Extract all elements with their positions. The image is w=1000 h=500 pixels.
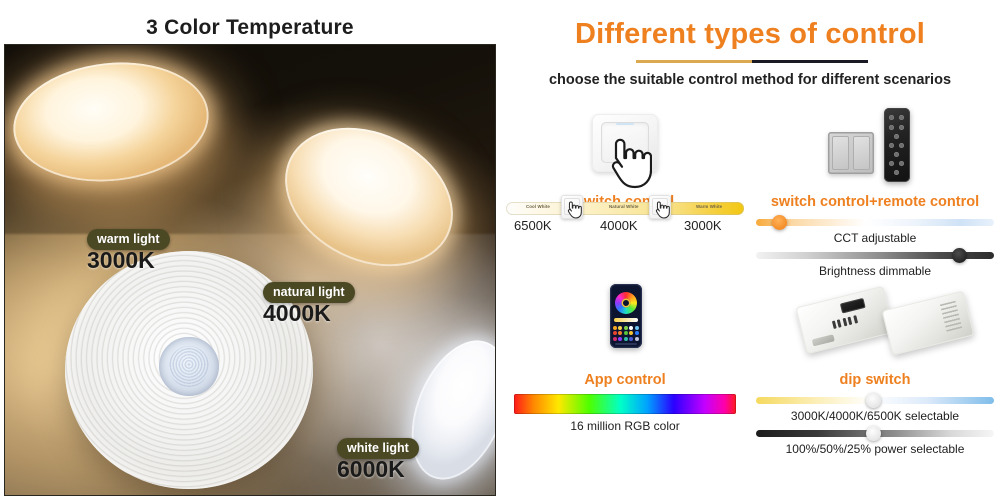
dip-switch-pins	[832, 315, 858, 329]
cct-tag-natural: Natural White	[609, 204, 639, 209]
infographic-page: 3 Color Temperature warm light 3000K	[0, 0, 1000, 500]
color-wheel	[615, 292, 637, 314]
cct-kelvin-warm: 3000K	[684, 218, 722, 233]
driver-vents	[940, 301, 963, 334]
dip-switch-caption: dip switch	[750, 372, 1000, 388]
led-driver-front	[796, 286, 895, 354]
kelvin-natural-light: 4000K	[263, 300, 331, 327]
slider-knob[interactable]	[772, 215, 787, 230]
kelvin-white-light: 6000K	[337, 456, 405, 483]
dip-power-slider[interactable]	[756, 427, 994, 439]
dip-cct-slider[interactable]	[756, 394, 994, 406]
card-switch-control: switch control Cool White Natural White …	[500, 104, 750, 296]
app-brightness-slider	[614, 318, 638, 322]
switch-remote-art	[750, 104, 1000, 192]
pointing-hand-icon	[598, 134, 652, 190]
cct-adjustable-slider[interactable]	[756, 216, 994, 228]
brightness-dimmable-label: Brightness dimmable	[750, 264, 1000, 278]
card-dip-switch: dip switch 3000K/4000K/6500K selectable …	[750, 282, 1000, 474]
cct-step-strip: Cool White Natural White Warm White 6500…	[506, 200, 744, 240]
cct-kelvin-natural: 4000K	[600, 218, 638, 233]
switch-indicator-led	[616, 123, 634, 125]
cct-tag-warm: Warm White	[696, 204, 722, 209]
gang-rocker-right	[853, 136, 870, 170]
mini-switch-icon-2	[649, 195, 671, 219]
page-title: 3 Color Temperature	[0, 16, 500, 40]
underline-right-segment	[752, 60, 868, 63]
app-control-caption: App control	[500, 372, 750, 388]
product-photo: warm light 3000K natural light 4000K whi…	[4, 44, 496, 496]
led-driver-back	[882, 291, 975, 356]
title-underline	[636, 60, 868, 63]
cct-kelvin-cool: 6500K	[514, 218, 552, 233]
underline-left-segment	[636, 60, 752, 63]
dip-switch-art	[750, 282, 1000, 370]
two-gang-wall-switch-icon	[828, 132, 874, 174]
brightness-dimmable-slider[interactable]	[756, 249, 994, 261]
app-nav-bar	[615, 343, 637, 346]
section-subtitle: choose the suitable control method for d…	[500, 72, 1000, 88]
app-control-art	[500, 282, 750, 370]
mini-pointing-hand-icon	[651, 200, 670, 219]
gang-rocker-left	[832, 136, 849, 170]
slider-knob[interactable]	[866, 393, 881, 408]
section-title: Different types of control	[500, 18, 1000, 51]
mini-pointing-hand-icon	[563, 200, 582, 219]
switch-control-art	[500, 104, 750, 192]
card-switch-remote-control: switch control+remote control CCT adjust…	[750, 104, 1000, 296]
dip-power-label: 100%/50%/25% power selectable	[750, 442, 1000, 456]
mini-switch-icon-1	[561, 195, 583, 219]
rgb-color-label: 16 million RGB color	[500, 419, 750, 433]
control-types-panel: Different types of control choose the su…	[500, 0, 1000, 500]
card-app-control: App control 16 million RGB color	[500, 282, 750, 474]
driver-terminal	[812, 334, 835, 346]
cct-tag-cool: Cool White	[526, 204, 550, 209]
smartphone-icon	[610, 284, 642, 348]
dip-cct-label: 3000K/4000K/6500K selectable	[750, 409, 1000, 423]
dip-switch-block	[840, 298, 866, 314]
lamp-center-diffuser	[159, 337, 219, 397]
slider-knob[interactable]	[952, 248, 967, 263]
slider-knob[interactable]	[866, 426, 881, 441]
cct-adjustable-label: CCT adjustable	[750, 231, 1000, 245]
switch-remote-caption: switch control+remote control	[750, 194, 1000, 210]
kelvin-warm-light: 3000K	[87, 247, 155, 274]
remote-control-icon	[884, 108, 910, 182]
color-swatch-grid	[613, 326, 639, 341]
slider-track	[756, 219, 994, 226]
control-grid: switch control Cool White Natural White …	[500, 104, 1000, 500]
color-temperature-panel: 3 Color Temperature warm light 3000K	[0, 0, 500, 500]
rgb-spectrum-bar	[514, 394, 736, 414]
